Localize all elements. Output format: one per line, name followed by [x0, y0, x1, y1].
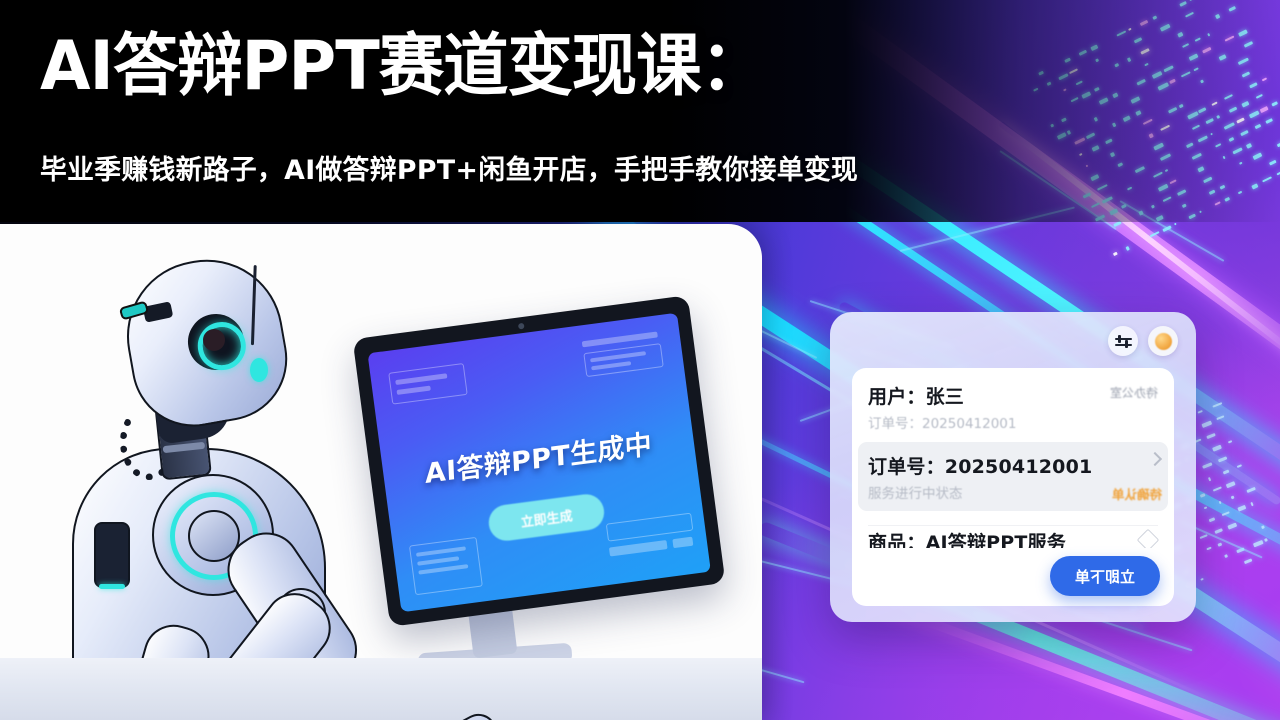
- card-toolbar: [830, 312, 1196, 368]
- page-title: AI答辩PPT赛道变现课：: [40, 30, 1096, 103]
- order-user-tag: 待办公室: [1110, 384, 1158, 401]
- avatar-glyph: [1155, 333, 1172, 350]
- monitor: AI答辩PPT生成中 立即生成: [353, 295, 726, 627]
- robot-illustration: [36, 252, 366, 702]
- order-row-number[interactable]: 订单号：20250412001 服务进行中状态 待确认单: [858, 442, 1168, 511]
- monitor-screen: AI答辩PPT生成中 立即生成: [367, 313, 710, 612]
- wireframe-bar: [609, 540, 668, 556]
- avatar-icon[interactable]: [1148, 326, 1178, 356]
- illustration-panel: AI答辩PPT生成中 立即生成: [0, 224, 762, 720]
- order-card: 用户：张三 订单号：20250412001 待办公室 订单号：202504120…: [830, 312, 1196, 622]
- promo-banner: AI答辩PPT赛道变现课： 毕业季赚钱新路子，AI做答辩PPT+闲鱼开店，手把手…: [0, 0, 1280, 720]
- status-badge: 待确认单: [1112, 484, 1162, 503]
- screen-title: AI答辩PPT生成中: [383, 417, 694, 497]
- order-row-user[interactable]: 用户：张三 订单号：20250412001 待办公室: [868, 382, 1158, 432]
- screen-generate-button[interactable]: 立即生成: [487, 492, 607, 543]
- card-body: 用户：张三 订单号：20250412001 待办公室 订单号：202504120…: [852, 368, 1174, 562]
- sliders-icon[interactable]: [1108, 326, 1138, 356]
- card-footer: 立即下单: [852, 548, 1174, 606]
- desk-surface: [0, 658, 762, 720]
- wireframe-bar: [672, 537, 693, 549]
- order-primary-button[interactable]: 立即下单: [1050, 556, 1160, 596]
- robot-vent: [94, 522, 130, 588]
- robot-head-seam: [251, 265, 257, 345]
- order-number-label: 订单号：20250412001: [868, 452, 1158, 479]
- page-subtitle: 毕业季赚钱新路子，AI做答辩PPT+闲鱼开店，手把手教你接单变现: [40, 148, 1208, 187]
- webcam-icon: [518, 323, 525, 330]
- sliders-glyph: [1115, 335, 1132, 348]
- robot-pupil: [203, 329, 225, 351]
- robot-ear-light: [250, 358, 268, 382]
- header-bar: AI答辩PPT赛道变现课： 毕业季赚钱新路子，AI做答辩PPT+闲鱼开店，手把手…: [0, 0, 1280, 222]
- order-user-sub: 订单号：20250412001: [868, 412, 1158, 432]
